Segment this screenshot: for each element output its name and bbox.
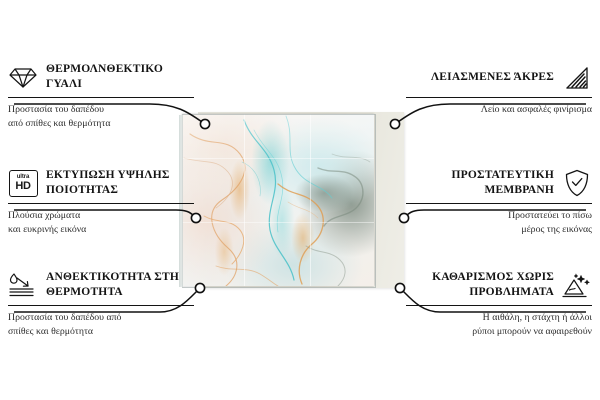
feature-high-quality-print: ultra HD ΕΚΤΥΠΩΣΗ ΥΨΗΛΗΣ ΠΟΙΟΤΗΤΑΣ Πλούσ… (8, 166, 194, 236)
feature-rule (406, 97, 592, 98)
shield-check-icon (562, 168, 592, 198)
feature-title: ΚΑΘΑΡΙΣΜΟΣ ΧΩΡΙΣ ΠΡΟΒΛΗΜΑΤΑ (406, 270, 554, 299)
feature-description: Πλούσια χρώματα και ευκρινής εικόνα (8, 209, 194, 236)
feature-title: ΑΝΘΕΚΤΙΚΟΤΗΤΑ ΣΤΗ ΘΕΡΜΟΤΗΤΑ (46, 270, 194, 299)
feature-protective-membrane: ΠΡΟΣΤΑΤΕΥΤΙΚΗ ΜΕΜΒΡΑΝΗ Προστατεύει το πί… (406, 166, 592, 236)
marble-artwork (182, 114, 374, 286)
infographic-canvas: ΘΕΡΜΟΛΝΘΕΚΤΙΚΟ ΓΥΑΛΙ Προστασία του δαπέδ… (0, 0, 600, 400)
product-image (182, 112, 404, 288)
feature-description: Προστασία του δαπέδου από σπίθες και θερ… (8, 311, 194, 338)
feature-title: ΛΕΙΑΣΜΕΝΕΣ ΆΚΡΕΣ (431, 70, 554, 85)
feature-heat-durability: ΑΝΘΕΚΤΙΚΟΤΗΤΑ ΣΤΗ ΘΕΡΜΟΤΗΤΑ Προστασία το… (8, 268, 194, 338)
feature-title: ΕΚΤΥΠΩΣΗ ΥΨΗΛΗΣ ΠΟΙΟΤΗΤΑΣ (46, 168, 194, 197)
heat-deflection-icon (8, 270, 38, 300)
feature-description: Προστατεύει το πίσω μέρος της εικόνας (406, 209, 592, 236)
feature-description: Λείο και ασφαλές φινίρισμα (406, 103, 592, 117)
diamond-icon (8, 62, 38, 92)
glass-panel (182, 114, 374, 286)
feature-description: Προστασία του δαπέδου από σπίθες και θερ… (8, 103, 194, 130)
ultra-hd-badge-icon: ultra HD (8, 168, 38, 198)
feature-rule (406, 305, 592, 306)
feature-rule (8, 203, 194, 204)
feature-rule (8, 97, 194, 98)
feature-title: ΘΕΡΜΟΛΝΘΕΚΤΙΚΟ ΓΥΑΛΙ (46, 62, 194, 91)
hd-label: HD (15, 181, 30, 192)
feature-rule (406, 203, 592, 204)
feature-heat-resistant-glass: ΘΕΡΜΟΛΝΘΕΚΤΙΚΟ ΓΥΑΛΙ Προστασία του δαπέδ… (8, 60, 194, 130)
polished-edges-icon (562, 62, 592, 92)
feature-rule (8, 305, 194, 306)
feature-easy-cleaning: ΚΑΘΑΡΙΣΜΟΣ ΧΩΡΙΣ ΠΡΟΒΛΗΜΑΤΑ Η αιθάλη, η … (406, 268, 592, 338)
feature-title: ΠΡΟΣΤΑΤΕΥΤΙΚΗ ΜΕΜΒΡΑΝΗ (406, 168, 554, 197)
feature-polished-edges: ΛΕΙΑΣΜΕΝΕΣ ΆΚΡΕΣ Λείο και ασφαλές φινίρι… (406, 60, 592, 117)
sparkle-clean-icon (562, 270, 592, 300)
feature-description: Η αιθάλη, η στάχτη ή άλλοι ρύποι μπορούν… (406, 311, 592, 338)
